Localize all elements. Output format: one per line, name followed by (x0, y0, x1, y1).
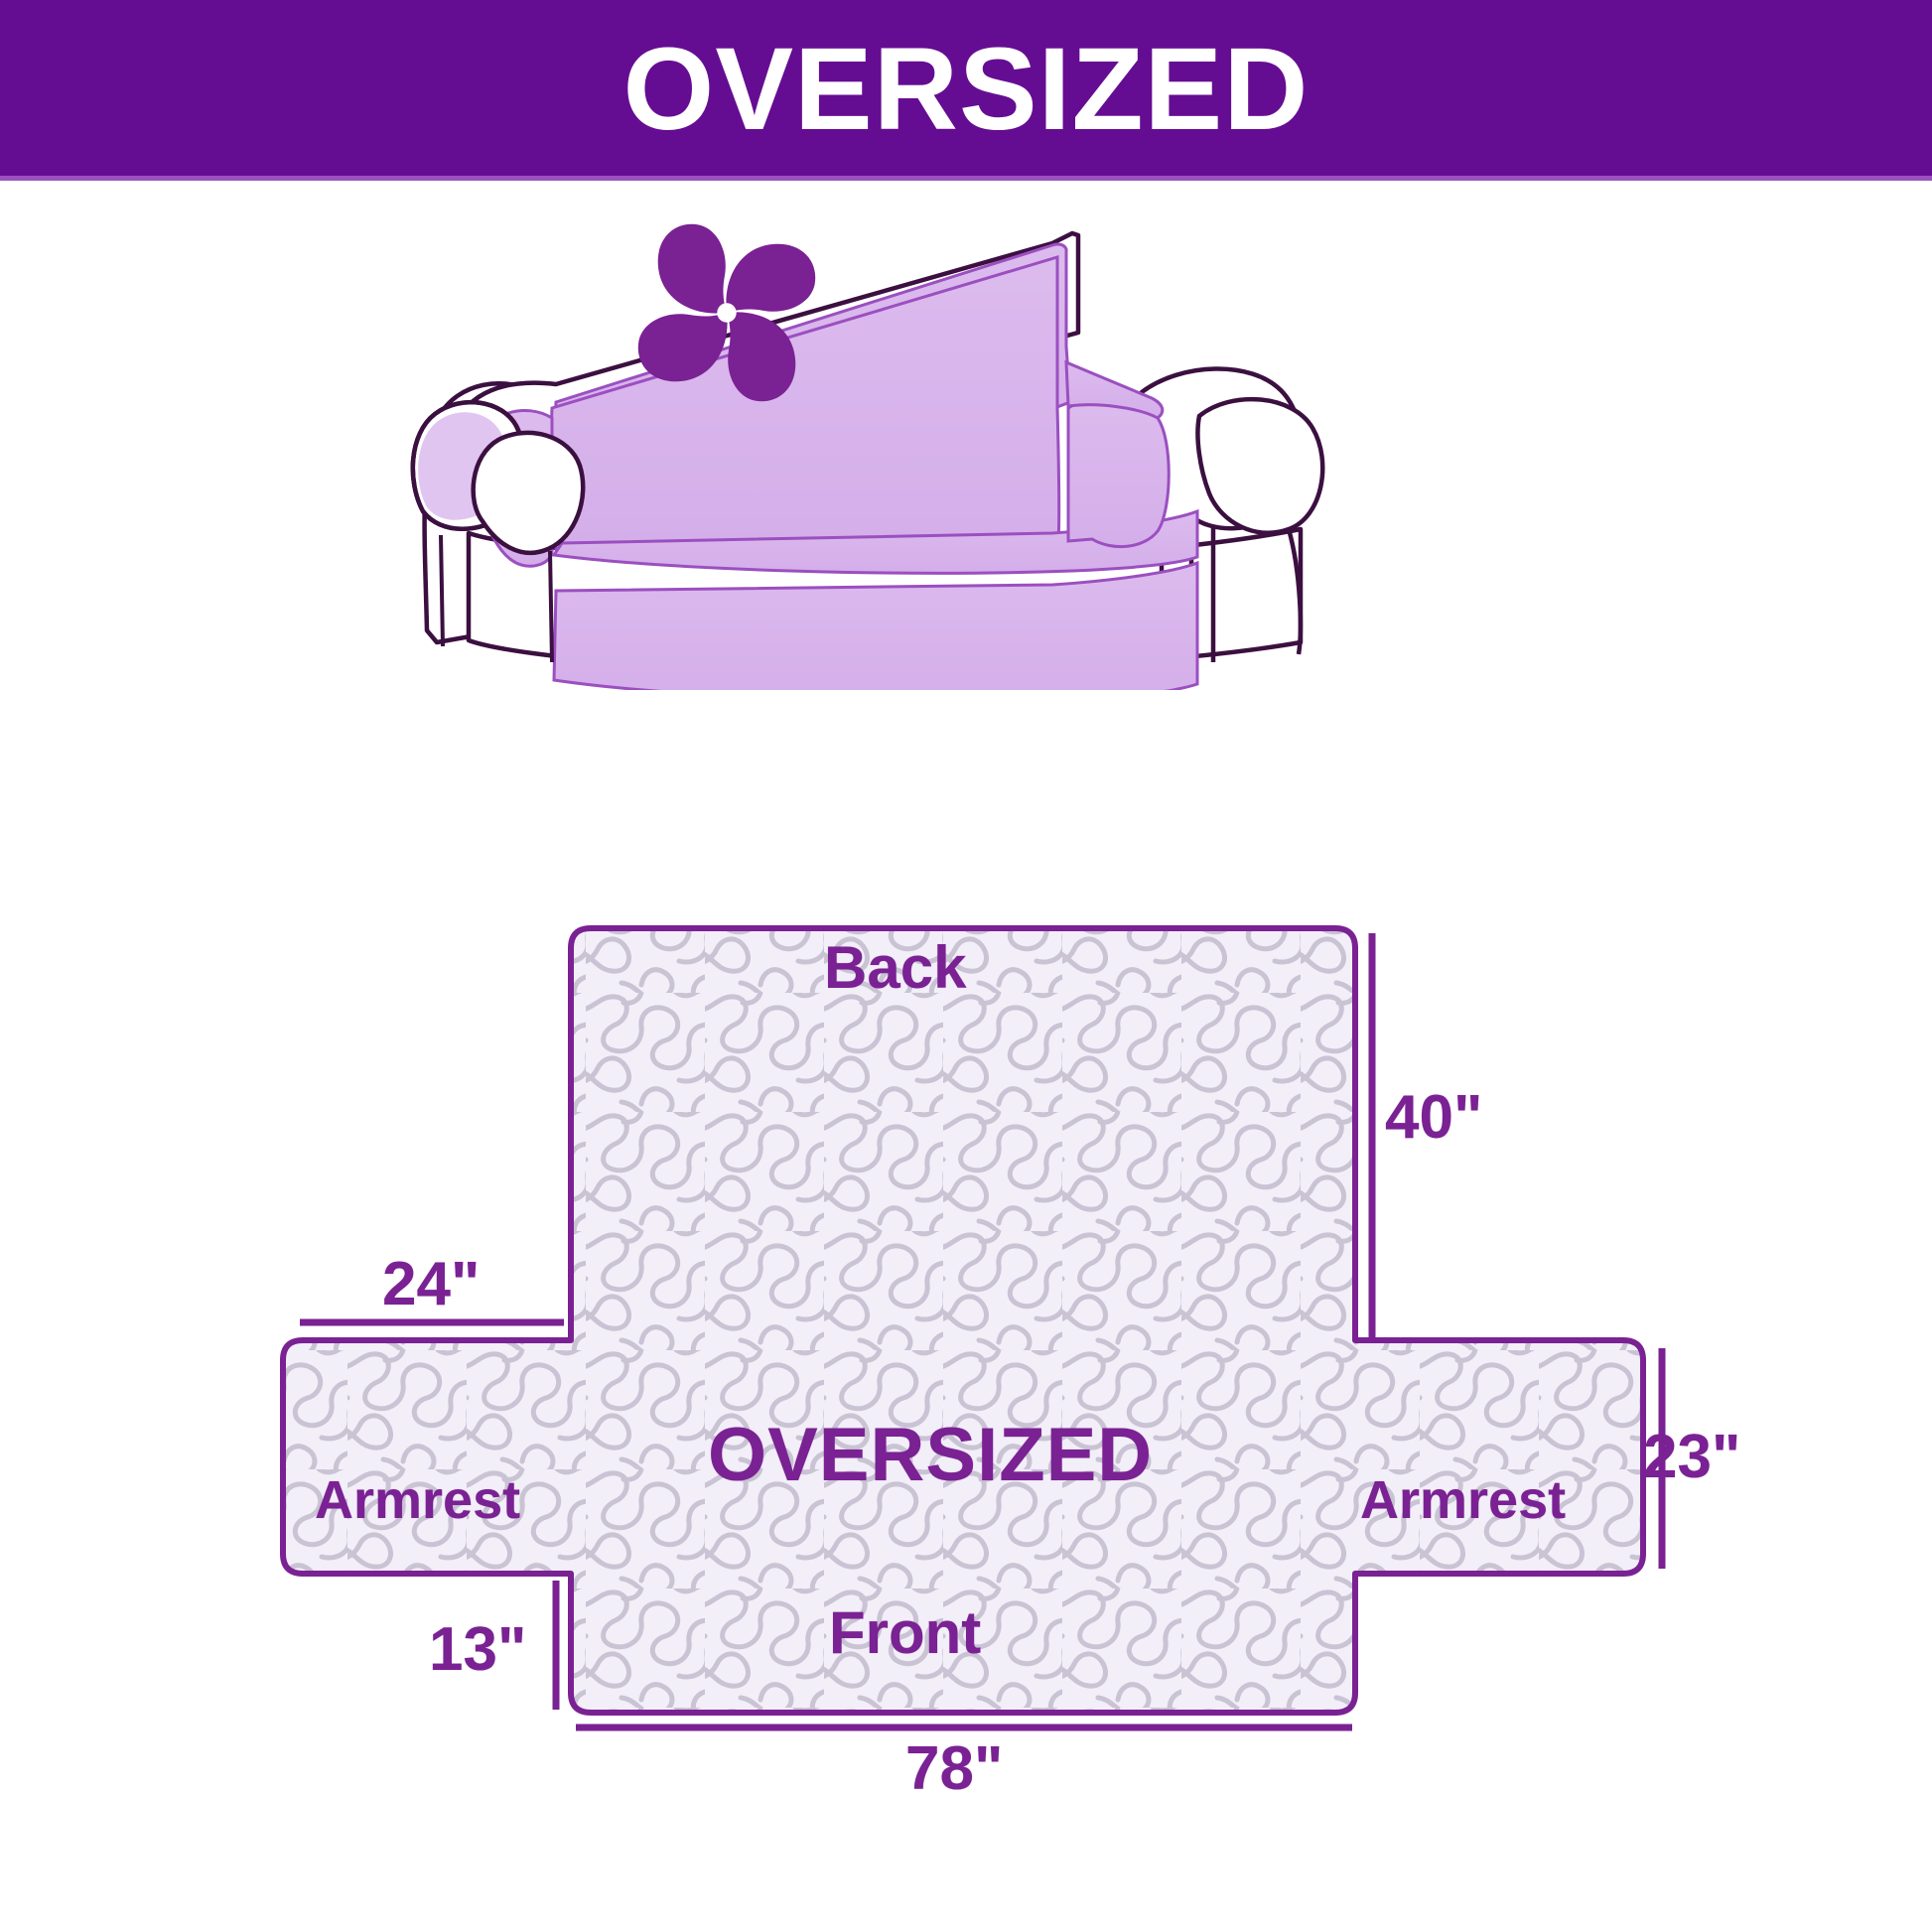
banner-bottom-edge (0, 176, 1932, 181)
dimension-label-front-drop: 13" (429, 1614, 526, 1685)
dimension-label-total-width: 78" (905, 1733, 1003, 1804)
dimension-label-back-height: 40" (1385, 1082, 1482, 1153)
panel-label-front: Front (829, 1598, 981, 1667)
dimension-label-armrest-height: 23" (1643, 1422, 1740, 1492)
panel-label-back: Back (824, 933, 966, 1002)
page-title: OVERSIZED (0, 6, 1932, 173)
panel-label-armrest-left: Armrest (315, 1469, 520, 1531)
sofa-illustration (357, 213, 1588, 690)
dimension-label-armrest-width: 24" (382, 1249, 480, 1319)
panel-label-center: OVERSIZED (708, 1412, 1153, 1498)
sofa-cover-size-diagram: OVERSIZED (0, 0, 1932, 1932)
panel-label-armrest-right: Armrest (1360, 1469, 1566, 1531)
